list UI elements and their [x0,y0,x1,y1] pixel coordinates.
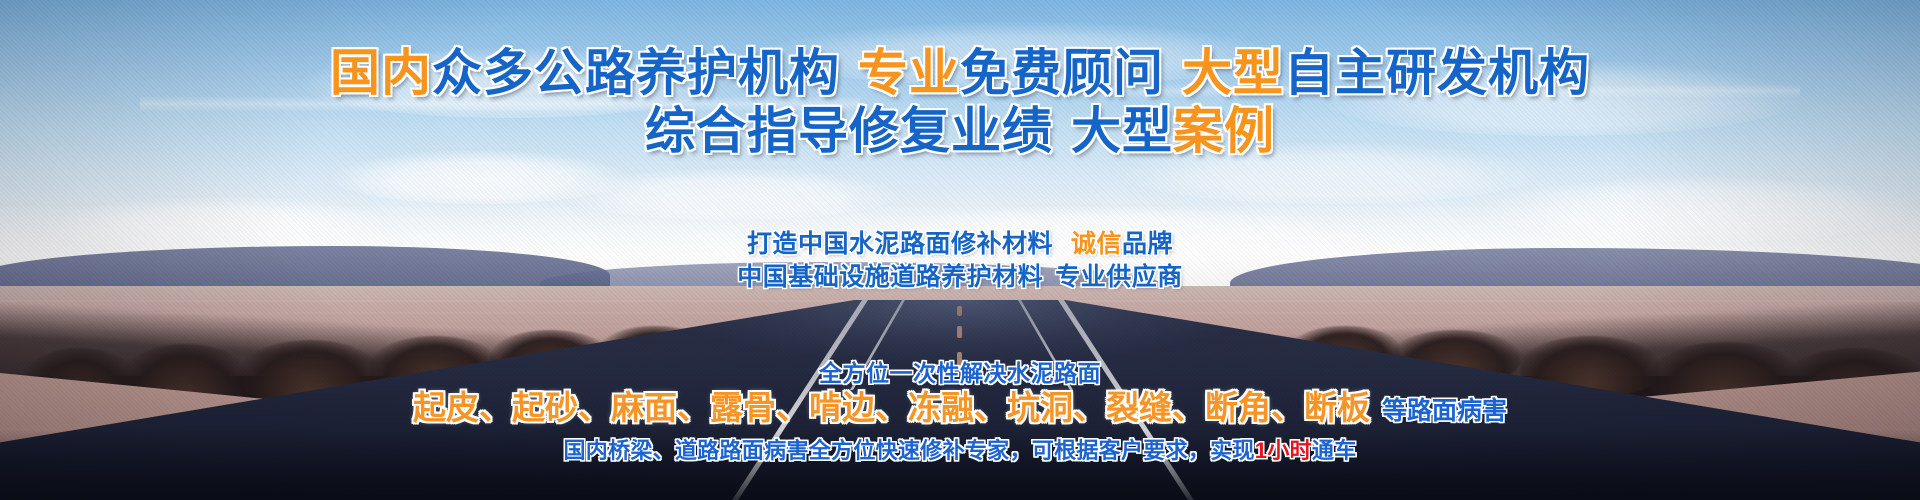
lower-l3-highlight: 1小时 [1255,438,1312,463]
headline-l1-seg-1: 国内 [330,45,432,101]
promo-banner: 国内众多公路养护机构专业免费顾问大型自主研发机构 综合指导修复业绩大型案例 打造… [0,0,1920,500]
headline-l1-seg-6: 自主研发机构 [1284,45,1590,101]
lower-l2-suffix: 等路面病害 [1382,397,1507,425]
lower-line-1: 全方位一次性解决水泥路面 [0,358,1920,388]
headline-l1-seg-2: 众多公路养护机构 [432,45,840,101]
subheading-l1-seg-1: 打造中国水泥路面修补材料 [747,230,1053,258]
center-dash [957,306,962,316]
subheading-line-2: 中国基础设施道路养护材料专业供应商 [0,261,1920,294]
center-dash [957,326,962,338]
lower-l3-seg-3: 通车 [1312,438,1357,463]
headline-l1-seg-3: 专业 [858,45,960,101]
headline-l1-seg-5: 大型 [1182,45,1284,101]
subheading-l2-seg-2: 专业供应商 [1055,263,1183,291]
headline-line-1: 国内众多公路养护机构专业免费顾问大型自主研发机构 [0,44,1920,102]
headline-l2-seg-3: 案例 [1173,103,1275,159]
headline-l2-seg-1: 综合指导修复业绩 [645,103,1053,159]
headline-l1-seg-4: 免费顾问 [960,45,1164,101]
lower-line-3: 国内桥梁、道路路面病害全方位快速修补专家，可根据客户要求，实现1小时通车 [0,436,1920,466]
subheading-l1-seg-3: 品牌 [1122,230,1173,258]
subheading-line-1: 打造中国水泥路面修补材料诚信品牌 [0,228,1920,261]
subheading-l2-seg-1: 中国基础设施道路养护材料 [737,263,1043,291]
lower-l1-seg-1: 全方位一次性解决水泥路面 [819,360,1101,386]
headline-line-2: 综合指导修复业绩大型案例 [0,102,1920,160]
lower-l3-seg-1: 国内桥梁、道路路面病害全方位快速修补专家，可根据客户要求，实现 [563,438,1254,463]
subheading-l1-seg-2: 诚信 [1071,230,1122,258]
lower-line-2: 起皮、起砂、麻面、露骨、啃边、冻融、坑洞、裂缝、断角、断板等路面病害 [0,387,1920,432]
lower-l2-defects: 起皮、起砂、麻面、露骨、啃边、冻融、坑洞、裂缝、断角、断板 [413,389,1370,426]
headline-l2-seg-2: 大型 [1071,103,1173,159]
